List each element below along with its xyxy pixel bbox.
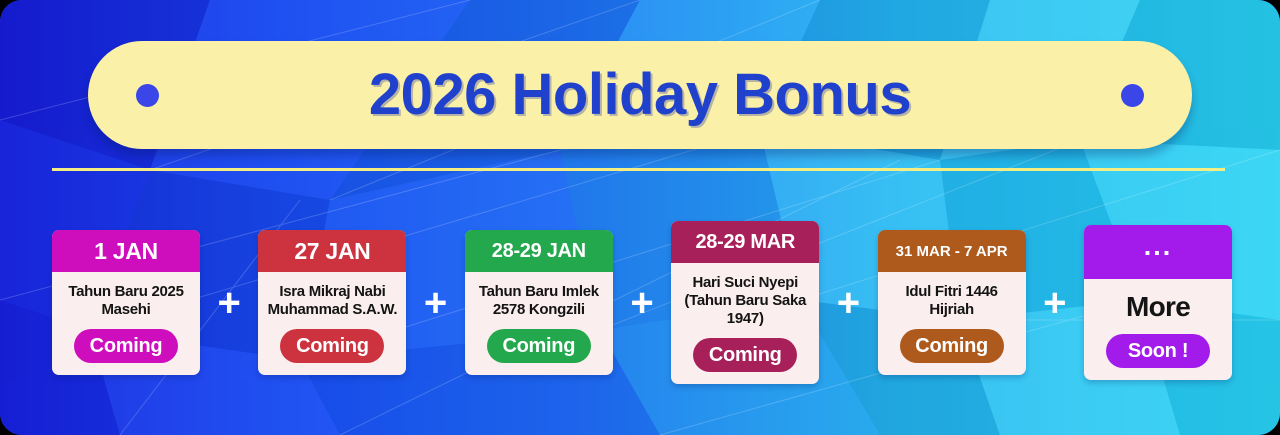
- status-badge[interactable]: Coming: [693, 338, 797, 372]
- status-badge[interactable]: Coming: [900, 329, 1004, 363]
- status-badge[interactable]: Soon !: [1106, 334, 1210, 368]
- status-badge[interactable]: Coming: [487, 329, 591, 363]
- card-footer: Coming: [878, 319, 1026, 375]
- card-body: Tahun Baru 2025 Masehi: [52, 272, 200, 318]
- banner-dot-right-icon: [1121, 84, 1144, 107]
- card-date-header: 27 JAN: [258, 230, 406, 272]
- divider: [52, 168, 1225, 171]
- holiday-card[interactable]: 1 JAN Tahun Baru 2025 Masehi Coming: [52, 230, 200, 374]
- banner-title-bar: 2026 Holiday Bonus: [88, 41, 1192, 149]
- status-badge[interactable]: Coming: [280, 329, 384, 363]
- plus-separator-icon: +: [613, 283, 671, 323]
- card-date-header: 31 MAR - 7 APR: [878, 230, 1026, 272]
- card-holiday-name: More: [1126, 290, 1190, 323]
- holiday-card-more[interactable]: ... More Soon !: [1084, 225, 1232, 379]
- card-holiday-name: Tahun Baru Imlek 2578 Kongzili: [471, 283, 607, 318]
- card-footer: Coming: [671, 328, 819, 384]
- plus-separator-icon: +: [1026, 283, 1084, 323]
- card-date-header: 28-29 MAR: [671, 221, 819, 263]
- holiday-card[interactable]: 28-29 JAN Tahun Baru Imlek 2578 Kongzili…: [465, 230, 613, 374]
- holiday-cards-row: 1 JAN Tahun Baru 2025 Masehi Coming + 27…: [52, 205, 1232, 400]
- plus-separator-icon: +: [406, 283, 464, 323]
- card-footer: Coming: [258, 319, 406, 375]
- holiday-card[interactable]: 28-29 MAR Hari Suci Nyepi (Tahun Baru Sa…: [671, 221, 819, 383]
- card-body: More: [1084, 279, 1232, 323]
- holiday-card[interactable]: 31 MAR - 7 APR Idul Fitri 1446 Hijriah C…: [878, 230, 1026, 374]
- card-footer: Coming: [52, 319, 200, 375]
- banner-dot-left-icon: [136, 84, 159, 107]
- card-footer: Coming: [465, 319, 613, 375]
- page-title: 2026 Holiday Bonus: [159, 66, 1121, 124]
- status-badge[interactable]: Coming: [74, 329, 178, 363]
- card-holiday-name: Isra Mikraj Nabi Muhammad S.A.W.: [264, 283, 400, 318]
- ellipsis-icon: ...: [1084, 225, 1232, 279]
- plus-separator-icon: +: [200, 283, 258, 323]
- card-holiday-name: Tahun Baru 2025 Masehi: [58, 283, 194, 318]
- holiday-bonus-banner: 2026 Holiday Bonus 1 JAN Tahun Baru 2025…: [0, 0, 1280, 435]
- card-body: Idul Fitri 1446 Hijriah: [878, 272, 1026, 318]
- card-body: Tahun Baru Imlek 2578 Kongzili: [465, 272, 613, 318]
- card-holiday-name: Idul Fitri 1446 Hijriah: [884, 283, 1020, 318]
- card-holiday-name: Hari Suci Nyepi (Tahun Baru Saka 1947): [677, 274, 813, 327]
- card-footer: Soon !: [1084, 324, 1232, 380]
- card-date-header: 1 JAN: [52, 230, 200, 272]
- card-body: Isra Mikraj Nabi Muhammad S.A.W.: [258, 272, 406, 318]
- card-date-header: 28-29 JAN: [465, 230, 613, 272]
- card-body: Hari Suci Nyepi (Tahun Baru Saka 1947): [671, 263, 819, 327]
- plus-separator-icon: +: [819, 283, 877, 323]
- holiday-card[interactable]: 27 JAN Isra Mikraj Nabi Muhammad S.A.W. …: [258, 230, 406, 374]
